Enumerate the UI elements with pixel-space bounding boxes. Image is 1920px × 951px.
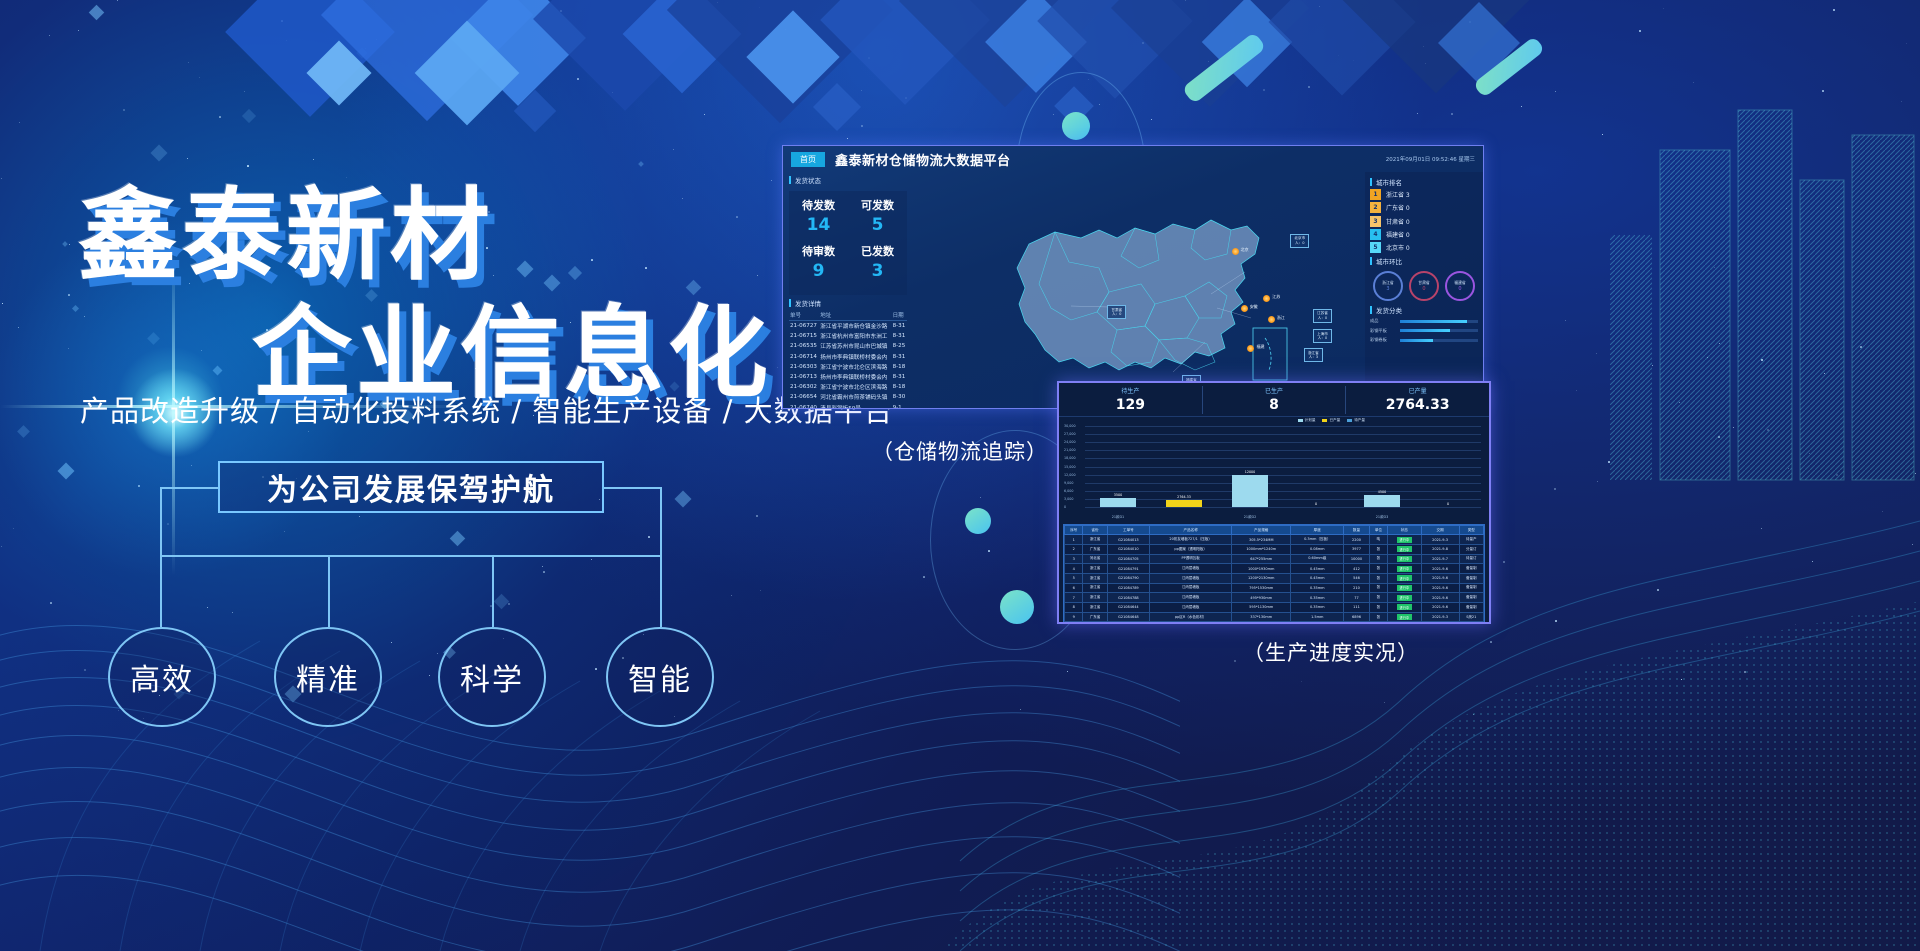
ship-class-label-2: 彩钢卷板 <box>1370 337 1396 343</box>
map-pin-label-4: 福建 <box>1256 344 1264 350</box>
feature-pill-1[interactable]: 精准 <box>274 627 382 727</box>
production-cell-status: 进行中 <box>1388 535 1421 545</box>
production-kpi-value-0: 129 <box>1116 397 1145 413</box>
city-ring-value-2: 0 <box>1458 286 1461 292</box>
production-col-6: 数量 <box>1344 526 1369 535</box>
production-cell-status: 进行中 <box>1388 622 1421 624</box>
production-cell-7: 张 <box>1369 564 1387 574</box>
production-cell-tail-0: 2021-9-3 <box>1421 612 1459 622</box>
production-cell-tail-0: 2021-9-7 <box>1421 554 1459 564</box>
production-col-2: 工单号 <box>1107 526 1149 535</box>
ship-class-track-2 <box>1400 339 1478 342</box>
shipment-cell-1: 扬州市李典镇联桥村委会内 <box>819 352 891 362</box>
bar-cell-4[interactable]: 4500 <box>1349 426 1415 507</box>
kpi-value-3: 3 <box>848 261 907 287</box>
production-cell-7: 张 <box>1369 583 1387 593</box>
shipment-cell-0: 21-06714 <box>789 352 819 362</box>
production-cell-4: 647*255mm <box>1232 554 1291 564</box>
shipment-cell-0: 21-06654 <box>789 392 819 402</box>
table-row[interactable]: 2广东省G21084010pp图案（透明阳板）1000mm*1240m0.08m… <box>1065 544 1484 554</box>
bar-value-1: 2764.33 <box>1177 495 1191 499</box>
production-cell-1: 浙江省 <box>1083 583 1107 593</box>
table-row[interactable]: 21-06303浙江省宁波市北仑区滨海路8-18 <box>789 362 907 372</box>
kpi-value-1: 5 <box>848 215 907 241</box>
status-badge: 进行中 <box>1397 566 1413 572</box>
table-row[interactable]: 21-06535江苏省苏州市昆山市巴城镇8-25 <box>789 341 907 351</box>
chart-legend: 计划量 已产量 待产量 <box>1298 418 1365 423</box>
production-cell-3: 江丙层墙板 <box>1150 593 1232 603</box>
map-pin-label-2: 安徽 <box>1250 304 1258 310</box>
production-table-wrap[interactable]: 序号省份工单号产品名称产品规格厚度数量单位状态交期类型 1浙江省G2108401… <box>1063 524 1485 624</box>
logistics-title: 鑫泰新材仓储物流大数据平台 <box>835 150 1011 169</box>
production-cell-tail-1: 菅量制 <box>1459 583 1483 593</box>
production-cell-7: 张 <box>1369 603 1387 613</box>
production-cell-7: 张 <box>1369 573 1387 583</box>
production-cell-7: 张 <box>1369 544 1387 554</box>
table-row[interactable]: 21-06654河北省霸州市煎茶铺码头镇8-30 <box>789 392 907 402</box>
city-rank-label-4: 北京市 0 <box>1386 243 1410 252</box>
shipment-cell-1: 浙江省宁波市北仑区滨海路 <box>819 382 891 392</box>
production-cell-status: 进行中 <box>1388 612 1421 622</box>
production-kpi-0: 待生产 129 <box>1059 386 1203 414</box>
production-cell-6: 546 <box>1344 573 1369 583</box>
production-cell-6: 210 <box>1344 583 1369 593</box>
map-callout-4[interactable]: 浙江省人：3 <box>1304 348 1323 362</box>
status-badge: 进行中 <box>1397 585 1413 591</box>
ship-class-track-1 <box>1400 329 1478 332</box>
production-col-9: 交期 <box>1421 526 1459 535</box>
production-cell-status: 进行中 <box>1388 554 1421 564</box>
city-rank-item-1[interactable]: 2 广东省 0 <box>1370 202 1478 213</box>
production-cell-1: 浙江省 <box>1083 535 1107 545</box>
production-cell-6: 412 <box>1344 564 1369 574</box>
shipment-cell-0: 21-06302 <box>789 382 819 392</box>
china-map[interactable]: 北京江苏安徽浙江福建 北京市人：0甘肃省人：0江苏省人：0上海市人：0浙江省人：… <box>913 172 1365 409</box>
bar-cell-3[interactable]: 0 <box>1283 426 1349 507</box>
bar-rect-4 <box>1364 495 1400 507</box>
production-cell-3: pp区R（水色彩材） <box>1150 612 1232 622</box>
city-ring-2[interactable]: 福建省 0 <box>1445 271 1475 301</box>
production-cell-tail-1: 菅量型 <box>1459 622 1483 624</box>
legend-swatch-2 <box>1347 419 1352 422</box>
shipment-cell-0: 21-06715 <box>789 331 819 341</box>
connector-left <box>160 487 218 489</box>
y-tick-label: 6,000 <box>1064 489 1073 493</box>
production-cell-1: 广东省 <box>1083 622 1107 624</box>
city-rank-badge-4: 5 <box>1370 242 1381 253</box>
table-row[interactable]: 6浙江省G21084789江丙层墙板795*1530mm0.35mm210张进行… <box>1065 583 1484 593</box>
status-badge: 进行中 <box>1397 604 1413 610</box>
logistics-header: 首页 鑫泰新材仓储物流大数据平台 2021年09月01日 09:52:46 星期… <box>783 146 1483 172</box>
table-row[interactable]: 21-06713扬州市李典镇联桥村委会内8-31 <box>789 372 907 382</box>
production-cell-2: G21084705 <box>1107 554 1149 564</box>
production-cell-2: G21084010 <box>1107 544 1149 554</box>
legend-item-1: 已产量 <box>1322 418 1340 423</box>
production-cell-status: 进行中 <box>1388 544 1421 554</box>
shipment-cell-1: 江苏省苏州市昆山市巴城镇 <box>819 341 891 351</box>
production-cell-tail-1: 待量产 <box>1459 535 1483 545</box>
city-ring-row: 浙江省 3 甘肃省 0 福建省 0 <box>1370 271 1478 301</box>
table-row[interactable]: 21-06715浙江省杭州市富阳市东洲工8-31 <box>789 331 907 341</box>
connector-left-down <box>160 487 162 627</box>
production-cell-5: 1.5mm <box>1291 612 1344 622</box>
status-badge: 进行中 <box>1397 595 1413 601</box>
city-rank-item-2[interactable]: 3 甘肃省 0 <box>1370 216 1478 227</box>
production-cell-tail-1: 待量订 <box>1459 554 1483 564</box>
production-cell-5: 0.45mm <box>1291 573 1344 583</box>
shipment-cell-0: 21-06535 <box>789 341 819 351</box>
production-cell-1: 浙江省 <box>1083 603 1107 613</box>
production-cell-6: 10000 <box>1344 554 1369 564</box>
production-cell-0: 2 <box>1065 544 1083 554</box>
shipment-cell-2: 8-31 <box>892 331 907 341</box>
production-kpi-label-0: 待生产 <box>1059 386 1202 395</box>
production-cell-tail-1: 菅量制 <box>1459 564 1483 574</box>
production-cell-tail-0: 2021-9-3 <box>1421 535 1459 545</box>
caption-production: （生产进度实况） <box>1243 637 1419 667</box>
table-row[interactable]: 3河北省G21084705PP透明瓦板647*255mm0.60mm级10000… <box>1065 554 1484 564</box>
shipment-col-1: 地址 <box>819 310 891 321</box>
production-cell-0: 10 <box>1065 622 1083 624</box>
ship-class-title: 发货分类 <box>1376 305 1402 315</box>
production-table[interactable]: 序号省份工单号产品名称产品规格厚度数量单位状态交期类型 1浙江省G2108401… <box>1064 525 1484 624</box>
ship-class-row-0: 成品 <box>1370 318 1478 324</box>
table-row[interactable]: 10广东省G21084553菅量板1000*20000.4mm100张进行中20… <box>1065 622 1484 624</box>
production-col-3: 产品名称 <box>1150 526 1232 535</box>
city-stats-panel: 城市排名 1 浙江省 3 2 广东省 0 3 甘肃省 0 4 福建省 0 5 北… <box>1365 172 1483 409</box>
legend-item-0: 计划量 <box>1298 418 1316 423</box>
table-row[interactable]: 21-06714扬州市李典镇联桥村委会内8-31 <box>789 352 907 362</box>
kpi-label-3: 已发数 <box>848 243 907 259</box>
bar-cell-1[interactable]: 2764.33 <box>1151 426 1217 507</box>
feature-pill-2[interactable]: 科学 <box>438 627 546 727</box>
production-cell-2: G21084788 <box>1107 593 1149 603</box>
map-pin-label-3: 浙江 <box>1277 315 1285 321</box>
table-row[interactable]: 5浙江省G21084790江丙层墙板1200*2130mm0.45mm546张进… <box>1065 573 1484 583</box>
production-cell-status: 进行中 <box>1388 564 1421 574</box>
shipment-cell-2: 9-1 <box>892 403 907 410</box>
production-bar-chart[interactable]: 计划量 已产量 待产量 30,00027,00024,00021,00018,0… <box>1063 419 1485 521</box>
table-row[interactable]: 21-06302浙江省宁波市北仑区滨海路8-18 <box>789 382 907 392</box>
y-tick-label: 24,000 <box>1064 440 1076 444</box>
city-rank-label-2: 甘肃省 0 <box>1386 217 1410 226</box>
production-cell-7: 张 <box>1369 554 1387 564</box>
production-col-1: 省份 <box>1083 526 1107 535</box>
production-cell-7: 张 <box>1369 593 1387 603</box>
table-row[interactable]: 8浙江省G21084644江丙层墙板595*1130mm0.35mm111张进行… <box>1065 603 1484 613</box>
production-cell-6: 2200 <box>1344 535 1369 545</box>
y-tick-label: 3,000 <box>1064 497 1073 501</box>
production-cell-tail-1: S烷21 <box>1459 612 1483 622</box>
city-ring-value-1: 0 <box>1422 286 1425 292</box>
production-cell-4: 1000mm*1240m <box>1232 544 1291 554</box>
city-rank-heading: 城市排名 <box>1370 177 1478 187</box>
y-tick-label: 9,000 <box>1064 481 1073 485</box>
production-cell-5: 0.3mm（压板） <box>1291 535 1344 545</box>
table-row[interactable]: 7浙江省G21084788江丙层墙板495*930mm0.35mm77张进行中2… <box>1065 593 1484 603</box>
map-callout-0[interactable]: 北京市人：0 <box>1290 234 1309 248</box>
city-ring-heading: 城市环比 <box>1370 256 1478 266</box>
production-cell-5: 0.35mm <box>1291 603 1344 613</box>
shipment-col-2: 日期 <box>892 310 907 321</box>
shipping-kpi-grid: 待发数可发数145待审数已发数93 <box>789 191 907 295</box>
connector-bus <box>160 555 662 557</box>
city-ring-value-0: 3 <box>1386 286 1389 292</box>
production-kpi-value-2: 2764.33 <box>1386 397 1450 413</box>
headline-block: 鑫泰新材 企业信息化 产品改造升级 / 自动化投料系统 / 智能生产设备 / 大… <box>0 0 820 480</box>
bar-rect-1 <box>1166 500 1202 507</box>
map-callout-2[interactable]: 江苏省人：0 <box>1313 309 1332 323</box>
production-cell-2: G21084791 <box>1107 564 1149 574</box>
shipment-cell-1: 浙江省平湖市新仓镇金沙路 <box>819 321 891 332</box>
production-cell-7: 张 <box>1369 622 1387 624</box>
city-rank-label-0: 浙江省 3 <box>1386 190 1410 199</box>
legend-label-2: 待产量 <box>1354 418 1365 423</box>
production-table-body[interactable]: 1浙江省G2108401320彩友墙板727/1（压板）305.5*234MM0… <box>1065 535 1484 624</box>
production-cell-0: 7 <box>1065 593 1083 603</box>
slogan-box: 为公司发展保驾护航 <box>218 461 604 513</box>
city-rank-list[interactable]: 1 浙江省 3 2 广东省 0 3 甘肃省 0 4 福建省 0 5 北京市 0 <box>1370 189 1478 253</box>
legend-label-1: 已产量 <box>1329 418 1340 423</box>
city-rank-item-0[interactable]: 1 浙江省 3 <box>1370 189 1478 200</box>
production-cell-6: 3977 <box>1344 544 1369 554</box>
shipment-cell-1: 浙江省宁波市北仑区滨海路 <box>819 362 891 372</box>
production-table-header: 序号省份工单号产品名称产品规格厚度数量单位状态交期类型 <box>1065 526 1484 535</box>
map-callout-3[interactable]: 上海市人：0 <box>1313 329 1332 343</box>
production-cell-1: 河北省 <box>1083 554 1107 564</box>
status-badge: 进行中 <box>1397 614 1413 620</box>
map-pin-label-1: 江苏 <box>1272 294 1280 300</box>
shipment-cell-1: 河北省霸州市煎茶铺码头镇 <box>819 392 891 402</box>
ship-class-label-0: 成品 <box>1370 318 1396 324</box>
connector-stem-3 <box>492 555 494 627</box>
feature-pill-0[interactable]: 高效 <box>108 627 216 727</box>
logistics-dashboard[interactable]: 首页 鑫泰新材仓储物流大数据平台 2021年09月01日 09:52:46 星期… <box>782 145 1484 409</box>
production-cell-4: 1000*2000 <box>1232 622 1291 624</box>
shipping-status-heading: 发货状态 <box>789 175 907 185</box>
shipment-cell-2: 8-18 <box>892 382 907 392</box>
ship-class-fill-1 <box>1400 329 1450 332</box>
bar-value-5: 0 <box>1447 502 1449 506</box>
production-cell-3: 20彩友墙板727/1（压板） <box>1150 535 1232 545</box>
production-cell-3: 菅量板 <box>1150 622 1232 624</box>
production-cell-4: 495*930mm <box>1232 593 1291 603</box>
production-kpi-1: 已生产 8 <box>1203 386 1347 414</box>
production-col-0: 序号 <box>1065 526 1083 535</box>
chart-bars: 3500 2764.33 12000 0 4500 0 <box>1085 426 1481 507</box>
legend-swatch-0 <box>1298 419 1303 422</box>
production-cell-2: G21084789 <box>1107 583 1149 593</box>
production-cell-2: G21084648 <box>1107 612 1149 622</box>
shipment-cell-0: 21-06727 <box>789 321 819 332</box>
production-cell-3: 江丙层墙板 <box>1150 573 1232 583</box>
city-rank-label-1: 广东省 0 <box>1386 203 1410 212</box>
section-marker-icon <box>789 176 791 184</box>
shipment-cell-1: 浙江省杭州市富阳市东洲工 <box>819 331 891 341</box>
table-row[interactable]: 1浙江省G2108401320彩友墙板727/1（压板）305.5*234MM0… <box>1065 535 1484 545</box>
city-rank-badge-2: 3 <box>1370 216 1381 227</box>
city-rank-badge-0: 1 <box>1370 189 1381 200</box>
production-cell-status: 进行中 <box>1388 603 1421 613</box>
production-cell-6: 6896 <box>1344 612 1369 622</box>
table-row[interactable]: 4浙江省G21084791江丙层墙板1000*1930mm0.45mm412张进… <box>1065 564 1484 574</box>
city-rank-label-3: 福建省 0 <box>1386 230 1410 239</box>
ship-class-heading: 发货分类 <box>1370 305 1478 315</box>
production-kpi-value-1: 8 <box>1269 397 1279 413</box>
bar-value-4: 4500 <box>1378 490 1386 494</box>
kpi-label-0: 待发数 <box>789 197 848 213</box>
status-badge: 进行中 <box>1397 546 1413 552</box>
city-ring-1[interactable]: 甘肃省 0 <box>1409 271 1439 301</box>
production-cell-0: 5 <box>1065 573 1083 583</box>
table-row[interactable]: 21-06740清县彩钢板50号9-1 <box>789 403 907 410</box>
logistics-datetime: 2021年09月01日 09:52:46 星期三 <box>1386 155 1475 163</box>
status-badge: 进行中 <box>1397 575 1413 581</box>
map-pin-0[interactable] <box>1232 248 1239 255</box>
shipment-cell-0: 21-06303 <box>789 362 819 372</box>
production-cell-4: 337*130mm <box>1232 612 1291 622</box>
shipment-cell-1: 清县彩钢板50号 <box>819 403 891 410</box>
x-tick-label-0: 21款D1 <box>1112 514 1124 519</box>
production-cell-1: 浙江省 <box>1083 564 1107 574</box>
production-kpi-row: 待生产 129 已生产 8 已产量 2764.33 <box>1059 383 1489 417</box>
bar-cell-0[interactable]: 3500 <box>1085 426 1151 507</box>
production-cell-1: 浙江省 <box>1083 573 1107 583</box>
production-cell-4: 795*1530mm <box>1232 583 1291 593</box>
accent-dot-3 <box>1000 590 1034 624</box>
production-cell-3: 江丙层墙板 <box>1150 583 1232 593</box>
production-cell-0: 3 <box>1065 554 1083 564</box>
production-cell-tail-0: 2021-9-8 <box>1421 544 1459 554</box>
production-cell-0: 8 <box>1065 603 1083 613</box>
y-tick-label: 18,000 <box>1064 456 1076 460</box>
bar-rect-2 <box>1232 475 1268 507</box>
shipment-cell-2: 8-30 <box>892 392 907 402</box>
section-marker-icon-5 <box>1370 306 1372 314</box>
ship-class-fill-0 <box>1400 320 1467 323</box>
shipping-detail-heading: 发货详情 <box>789 298 907 308</box>
production-cell-0: 9 <box>1065 612 1083 622</box>
x-tick-label-2: 21款D2 <box>1244 514 1256 519</box>
kpi-value-2: 9 <box>789 261 848 287</box>
shipment-cell-2: 8-25 <box>892 341 907 351</box>
status-badge: 进行中 <box>1397 556 1413 562</box>
bar-value-2: 12000 <box>1245 470 1256 474</box>
ship-class-row-2: 彩钢卷板 <box>1370 337 1478 343</box>
feature-pill-label-3: 智能 <box>628 655 692 699</box>
bar-value-0: 3500 <box>1114 493 1122 497</box>
chart-plot-area: 30,00027,00024,00021,00018,00015,00012,0… <box>1085 426 1481 507</box>
production-cell-1: 广东省 <box>1083 544 1107 554</box>
production-cell-0: 4 <box>1065 564 1083 574</box>
ship-class-row-1: 彩钢平板 <box>1370 328 1478 334</box>
map-pin-label-0: 北京 <box>1241 247 1249 253</box>
production-cell-2: G21084013 <box>1107 535 1149 545</box>
shipment-cell-0: 21-06740 <box>789 403 819 410</box>
production-cell-tail-1: 分量订 <box>1459 544 1483 554</box>
production-col-5: 厚度 <box>1291 526 1344 535</box>
table-row[interactable]: 21-06727浙江省平湖市新仓镇金沙路8-31 <box>789 321 907 332</box>
section-marker-icon-4 <box>1370 257 1372 265</box>
production-cell-tail-0: 2021-9-6 <box>1421 593 1459 603</box>
shipment-cell-2: 8-18 <box>892 362 907 372</box>
ship-class-fill-2 <box>1400 339 1433 342</box>
y-tick-label: 15,000 <box>1064 465 1076 469</box>
y-tick-label: 21,000 <box>1064 448 1076 452</box>
production-cell-6: 100 <box>1344 622 1369 624</box>
section-marker-icon-2 <box>789 299 791 307</box>
map-pin-2[interactable] <box>1241 305 1248 312</box>
shipping-status-title: 发货状态 <box>795 175 821 185</box>
ship-class-track-0 <box>1400 320 1478 323</box>
production-cell-5: 0.35mm <box>1291 593 1344 603</box>
table-row[interactable]: 9广东省G21084648pp区R（水色彩材）337*130mm1.5mm689… <box>1065 612 1484 622</box>
city-rank-item-3[interactable]: 4 福建省 0 <box>1370 229 1478 240</box>
production-col-4: 产品规格 <box>1232 526 1291 535</box>
shipment-table[interactable]: 单号地址日期 21-06727浙江省平湖市新仓镇金沙路8-3121-06715浙… <box>789 310 907 409</box>
y-tick-label: 27,000 <box>1064 432 1076 436</box>
gridline <box>1085 507 1481 508</box>
feature-pill-3[interactable]: 智能 <box>606 627 714 727</box>
tab-home[interactable]: 首页 <box>791 152 825 167</box>
bar-cell-2[interactable]: 12000 <box>1217 426 1283 507</box>
production-cell-tail-0: 2021-9-6 <box>1421 564 1459 574</box>
legend-item-2: 待产量 <box>1347 418 1365 423</box>
map-callout-1[interactable]: 甘肃省人：0 <box>1107 305 1126 319</box>
city-rank-badge-3: 4 <box>1370 229 1381 240</box>
shipment-table-body[interactable]: 21-06727浙江省平湖市新仓镇金沙路8-3121-06715浙江省杭州市富阳… <box>789 321 907 410</box>
production-cell-0: 6 <box>1065 583 1083 593</box>
connector-right <box>604 487 662 489</box>
production-kpi-label-1: 已生产 <box>1203 386 1346 395</box>
production-cell-6: 111 <box>1344 603 1369 613</box>
headline-tagline: 产品改造升级 / 自动化投料系统 / 智能生产设备 / 大数据平台 <box>80 388 894 430</box>
production-cell-3: pp图案（透明阳板） <box>1150 544 1232 554</box>
production-cell-4: 305.5*234MM <box>1232 535 1291 545</box>
map-pin-1[interactable] <box>1263 295 1270 302</box>
map-pin-3[interactable] <box>1268 316 1275 323</box>
city-rank-item-4[interactable]: 5 北京市 0 <box>1370 242 1478 253</box>
production-col-7: 单位 <box>1369 526 1387 535</box>
production-cell-5: 0.60mm级 <box>1291 554 1344 564</box>
production-cell-7: 张 <box>1369 612 1387 622</box>
production-kpi-2: 已产量 2764.33 <box>1346 386 1489 414</box>
ship-class-bars: 成品 彩钢平板 彩钢卷板 <box>1370 318 1478 343</box>
x-tick-label-4: 21款D3 <box>1376 514 1388 519</box>
production-cell-tail-1: 菅量制 <box>1459 593 1483 603</box>
shipping-status-panel: 发货状态 待发数可发数145待审数已发数93 发货详情 单号地址日期 21-06… <box>783 172 913 409</box>
production-cell-2: G21084644 <box>1107 603 1149 613</box>
production-cell-5: 0.4mm <box>1291 622 1344 624</box>
production-cell-status: 进行中 <box>1388 573 1421 583</box>
city-ring-0[interactable]: 浙江省 3 <box>1373 271 1403 301</box>
production-cell-status: 进行中 <box>1388 593 1421 603</box>
shipment-cell-1: 扬州市李典镇联桥村委会内 <box>819 372 891 382</box>
bar-cell-5[interactable]: 0 <box>1415 426 1481 507</box>
kpi-value-0: 14 <box>789 215 848 241</box>
legend-swatch-1 <box>1322 419 1327 422</box>
slogan-text: 为公司发展保驾护航 <box>267 465 555 509</box>
production-cell-0: 1 <box>1065 535 1083 545</box>
status-badge: 进行中 <box>1397 537 1413 543</box>
production-cell-status: 进行中 <box>1388 583 1421 593</box>
production-dashboard[interactable]: 待生产 129 已生产 8 已产量 2764.33 计划量 已产量 待产量 30… <box>1057 381 1491 624</box>
feature-pill-label-2: 科学 <box>460 655 524 699</box>
production-cell-tail-1: 菅量制 <box>1459 573 1483 583</box>
accent-dot-1 <box>1062 112 1090 140</box>
production-cell-tail-0: 2021-8-31 <box>1421 622 1459 624</box>
kpi-label-1: 可发数 <box>848 197 907 213</box>
